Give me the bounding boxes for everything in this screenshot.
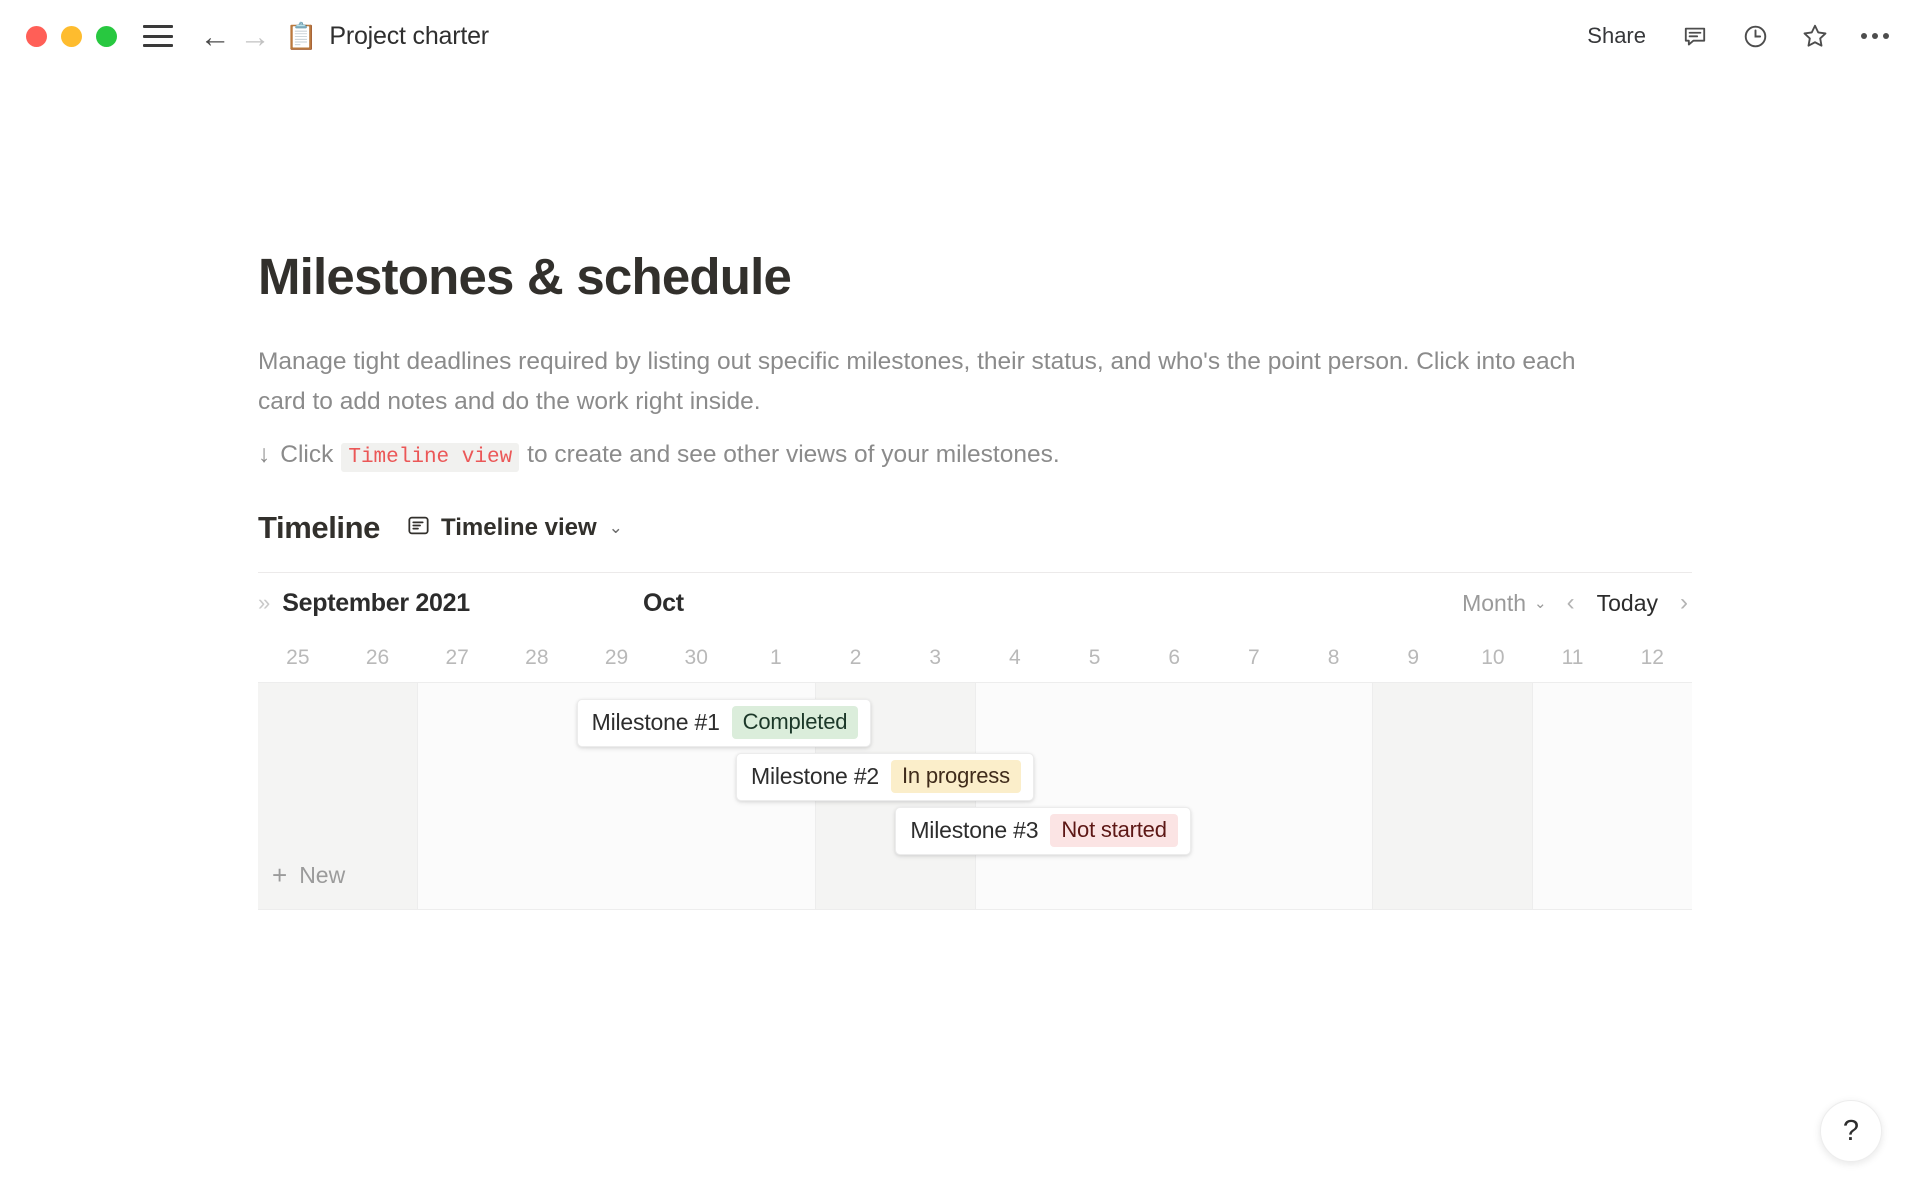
timeline-header: » September 2021 Oct Month ⌄ ‹ Today › [258,572,1692,634]
timeline-column-9 [1373,683,1452,909]
star-icon[interactable] [1798,19,1832,53]
timeline-day-7: 7 [1214,646,1294,670]
section-header: Timeline Timeline view ⌄ [258,510,1920,546]
traffic-lights [26,26,117,47]
timeline-prev-button[interactable]: ‹ [1563,589,1579,617]
timeline-day-25: 25 [258,646,338,670]
hint-line: ↓ Click Timeline view to create and see … [258,441,1920,472]
timeline-day-2: 2 [816,646,896,670]
timeline-grid: Milestone #1CompletedMilestone #2In prog… [258,682,1692,910]
timeline-next-button[interactable]: › [1676,589,1692,617]
timeline-day-26: 26 [338,646,418,670]
timeline-bar-title: Milestone #2 [751,763,879,790]
timeline-column-28 [497,683,576,909]
toolbar-actions: Share [1581,0,1892,72]
chevron-down-icon: ⌄ [609,518,623,538]
view-selector-label: Timeline view [441,514,597,542]
section-title: Timeline [258,510,380,546]
timeline-bar[interactable]: Milestone #3Not started [895,807,1190,855]
timeline-bar-title: Milestone #1 [592,709,720,736]
timeline-bar-title: Milestone #3 [910,817,1038,844]
timeline-day-ruler: 252627282930123456789101112 [258,634,1692,682]
timeline-day-10: 10 [1453,646,1533,670]
timeline-day-29: 29 [577,646,657,670]
expand-icon[interactable]: » [258,590,268,616]
timeline-day-3: 3 [895,646,975,670]
timeline-column-6 [1134,683,1213,909]
timeline-day-4: 4 [975,646,1055,670]
help-button[interactable]: ? [1820,1100,1882,1162]
share-button[interactable]: Share [1581,19,1652,53]
arrow-right-icon[interactable]: → [235,16,275,56]
timeline-day-8: 8 [1294,646,1374,670]
arrow-down-icon: ↓ [258,441,270,469]
arrow-left-icon[interactable]: ← [195,16,235,56]
add-new-row-button[interactable]: + New [258,858,355,893]
status-badge: Not started [1050,814,1177,847]
timeline-view-icon [406,513,431,543]
timeline-column-10 [1453,683,1533,909]
timeline-column-27 [418,683,497,909]
timeline-month-primary: September 2021 [282,589,470,618]
inline-code-timeline-view: Timeline view [341,443,519,472]
timeline-scale-selector[interactable]: Month ⌄ [1462,590,1547,617]
timeline-day-28: 28 [497,646,577,670]
timeline-day-9: 9 [1373,646,1453,670]
hint-suffix: to create and see other views of your mi… [527,441,1059,469]
timeline-column-8 [1293,683,1373,909]
timeline-bar[interactable]: Milestone #2In progress [736,753,1034,801]
minimize-window-button[interactable] [61,26,82,47]
hamburger-icon[interactable] [143,25,173,47]
timeline-month-secondary: Oct [643,589,684,618]
add-new-row-label: New [299,862,345,889]
timeline-day-1: 1 [736,646,816,670]
timeline-controls: Month ⌄ ‹ Today › [1462,589,1692,617]
chevron-down-icon: ⌄ [1534,594,1547,612]
timeline-column-11 [1533,683,1612,909]
more-horizontal-icon[interactable] [1858,19,1892,53]
timeline-day-5: 5 [1055,646,1135,670]
timeline-day-27: 27 [417,646,497,670]
status-badge: Completed [732,706,859,739]
clipboard-icon: 📋 [285,23,317,49]
status-badge: In progress [891,760,1021,793]
timeline-day-30: 30 [656,646,736,670]
document-title[interactable]: Project charter [329,22,489,51]
timeline-column-7 [1214,683,1293,909]
window-titlebar: ← → 📋 Project charter Share [0,0,1920,72]
clock-icon[interactable] [1738,19,1772,53]
page-content: Milestones & schedule Manage tight deadl… [0,72,1920,910]
timeline-today-button[interactable]: Today [1595,590,1660,617]
page-title: Milestones & schedule [258,247,1920,306]
plus-icon: + [272,862,287,888]
timeline-day-6: 6 [1134,646,1214,670]
timeline-widget: » September 2021 Oct Month ⌄ ‹ Today › 2… [258,572,1692,910]
timeline-day-11: 11 [1533,646,1613,670]
page-description: Manage tight deadlines required by listi… [258,342,1628,423]
timeline-day-12: 12 [1612,646,1692,670]
view-selector[interactable]: Timeline view ⌄ [402,510,627,546]
timeline-scale-label: Month [1462,590,1526,617]
comment-icon[interactable] [1678,19,1712,53]
close-window-button[interactable] [26,26,47,47]
timeline-column-12 [1613,683,1692,909]
timeline-bar[interactable]: Milestone #1Completed [577,699,872,747]
timeline-column-5 [1055,683,1134,909]
hint-prefix: Click [280,441,333,469]
zoom-window-button[interactable] [96,26,117,47]
